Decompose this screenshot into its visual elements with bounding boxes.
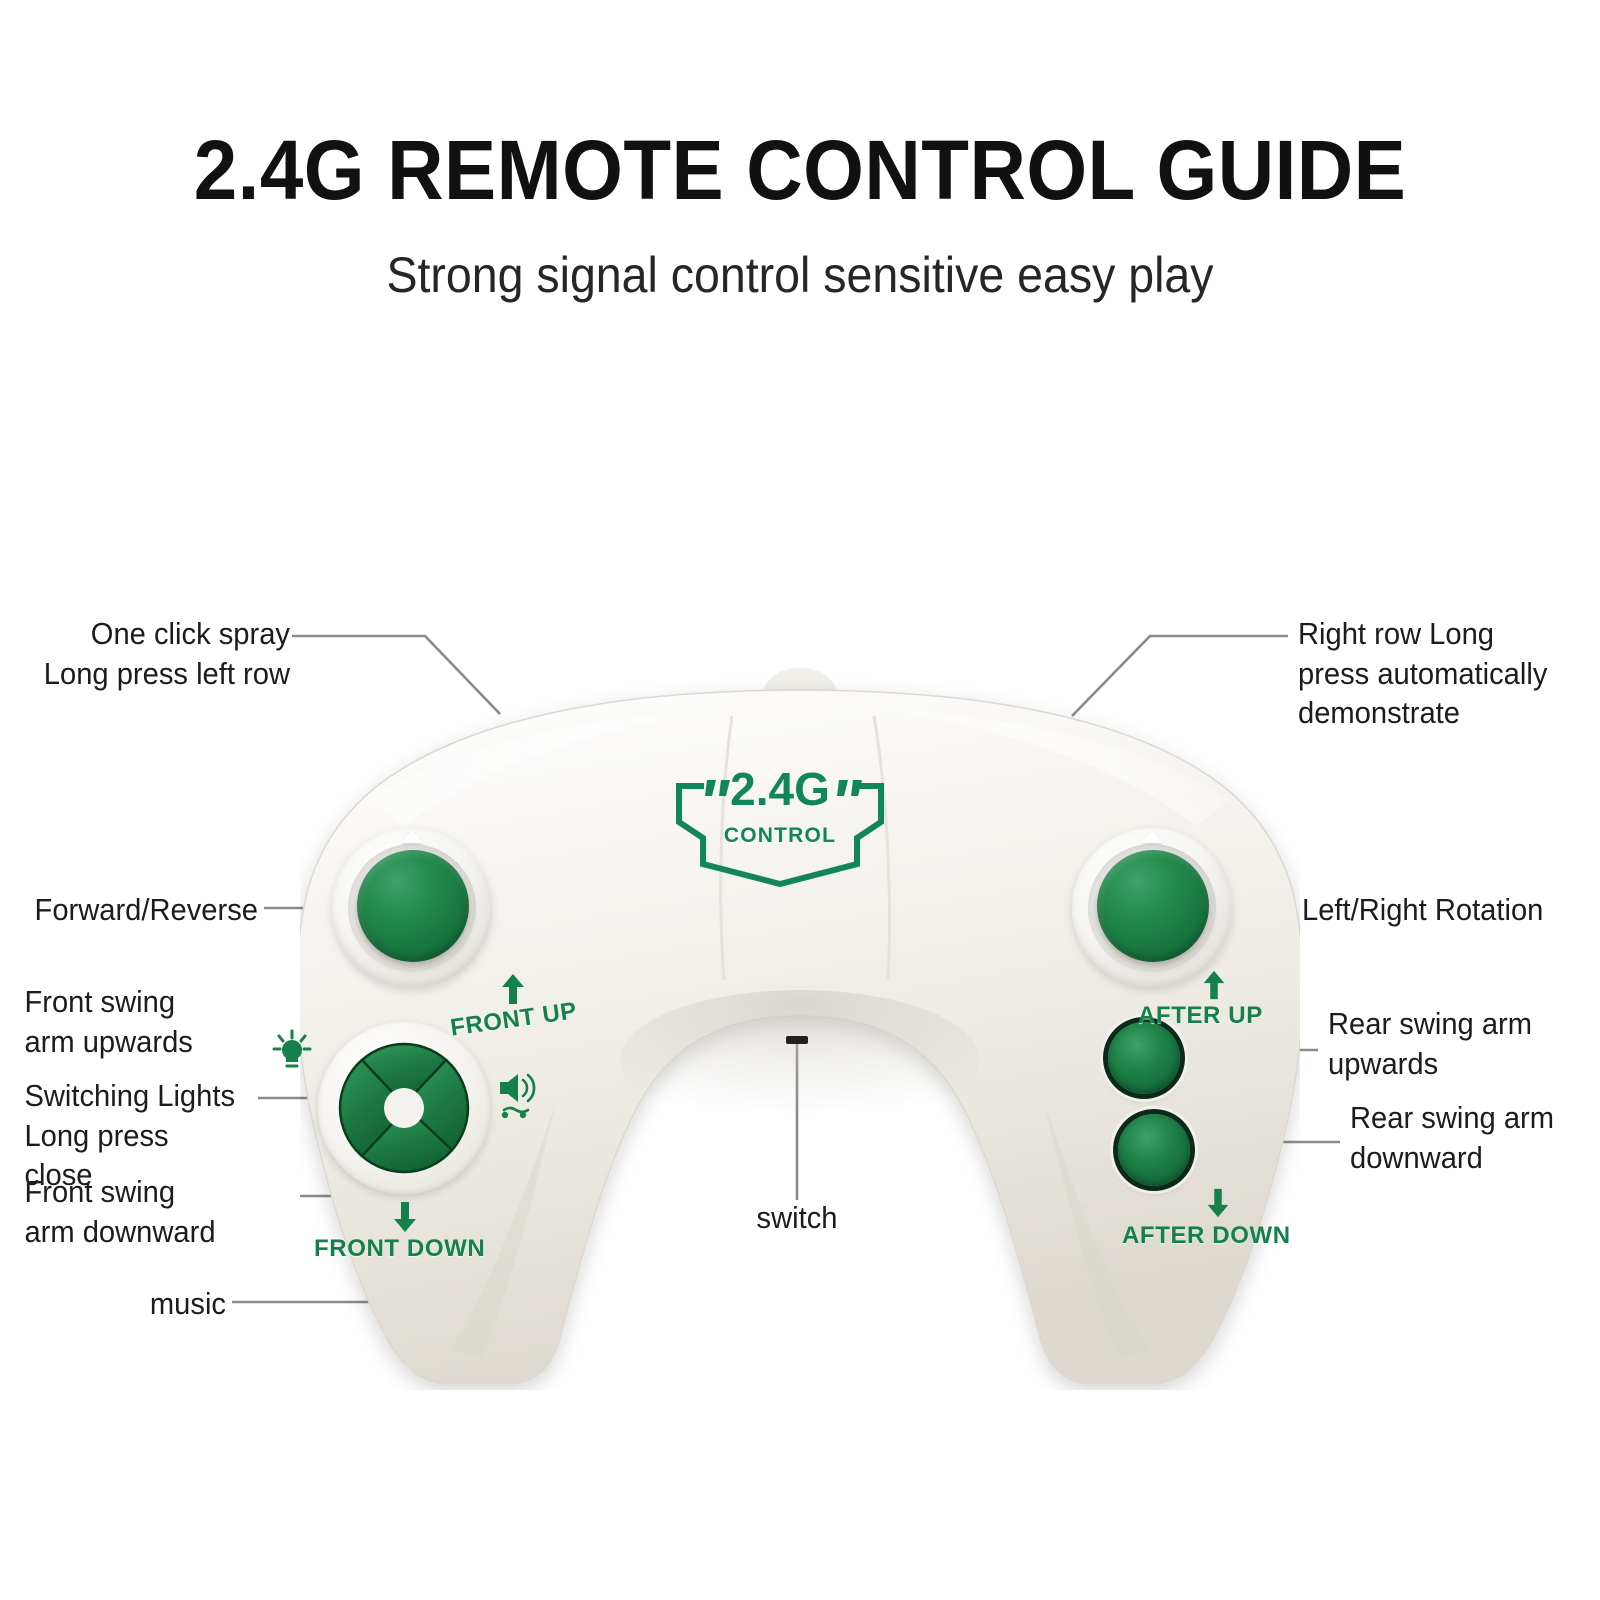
speaker-icon [496, 1070, 538, 1120]
callout-switch: switch [706, 1198, 888, 1238]
logo-primary-text: 2.4G [655, 766, 905, 812]
silk-after-down: AFTER DOWN [1122, 1222, 1291, 1250]
shell-crotch-shading [620, 990, 980, 1130]
right-joystick-well [1072, 828, 1232, 988]
logo-secondary-text: CONTROL [655, 824, 905, 848]
callout-rear-swing-arm-down: Rear swing arm downward [1350, 1098, 1585, 1177]
right-joystick-up-marker [1141, 830, 1163, 843]
callout-music: music [14, 1284, 226, 1324]
callout-front-swing-arm-down: Front swing arm downward [0, 1172, 276, 1251]
front-down-arrow-icon [388, 1200, 422, 1234]
after-up-arrow-icon [1198, 968, 1230, 1002]
silk-front-down: FRONT DOWN [314, 1235, 485, 1263]
button-rear-swing-arm-up[interactable] [1108, 1022, 1180, 1094]
brand-logo: 2.4G CONTROL [655, 760, 905, 890]
page-title: 2.4G REMOTE CONTROL GUIDE [56, 128, 1544, 212]
page-subtitle: Strong signal control sensitive easy pla… [56, 250, 1544, 300]
callout-one-click-spray: One click spray Long press left row [17, 614, 290, 693]
joystick-forward-reverse[interactable] [357, 850, 469, 962]
antenna-nub [762, 668, 838, 692]
joystick-left-right-rotation[interactable] [1097, 850, 1209, 962]
dpad-center-hub [384, 1088, 424, 1128]
left-joystick-up-marker [401, 830, 423, 843]
dpad-well [318, 1022, 490, 1194]
button-rear-swing-arm-down[interactable] [1118, 1114, 1190, 1186]
dpad [334, 1038, 474, 1178]
callout-right-row-long-press: Right row Long press automatically demon… [1298, 614, 1580, 733]
silk-after-up: AFTER UP [1138, 1002, 1263, 1030]
callout-rear-swing-arm-up: Rear swing arm upwards [1328, 1004, 1584, 1083]
power-switch[interactable] [786, 1036, 808, 1044]
light-bulb-icon [270, 1028, 314, 1072]
after-down-arrow-icon [1202, 1186, 1234, 1220]
callout-front-swing-arm-up: Front swing arm upwards [0, 982, 276, 1061]
left-joystick-well [332, 828, 492, 988]
callout-left-right-rotation: Left/Right Rotation [1302, 890, 1582, 930]
front-up-arrow-icon [496, 972, 530, 1006]
callout-forward-reverse: Forward/Reverse [15, 890, 258, 930]
